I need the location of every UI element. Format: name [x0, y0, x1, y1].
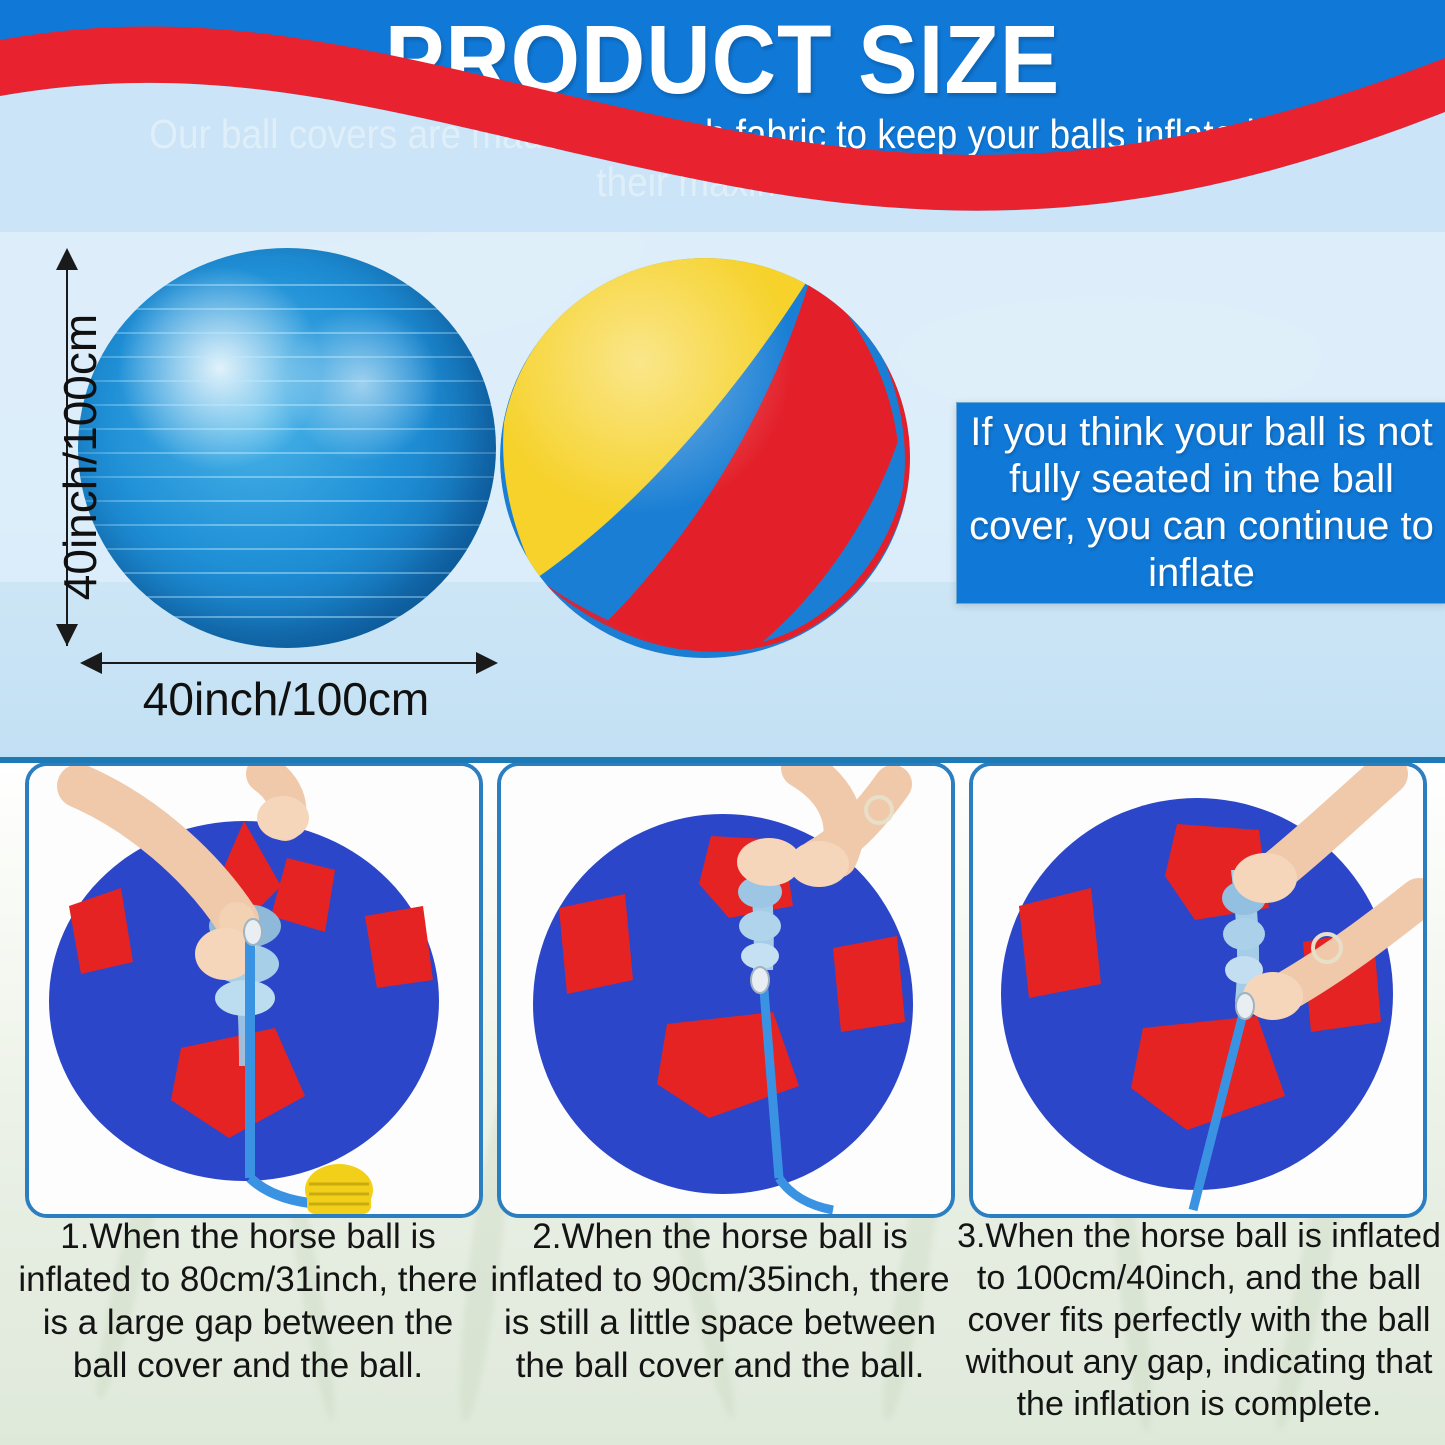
product-size-infographic: PRODUCT SIZE Our ball covers are made of… [0, 0, 1445, 1445]
step-3-photo-panel [969, 762, 1427, 1218]
width-dimension-label: 40inch/100cm [86, 672, 486, 726]
step-1-photo-panel [25, 762, 483, 1218]
step-2-photo-panel [497, 762, 955, 1218]
inflate-tip-callout: If you think your ball is not fully seat… [956, 402, 1445, 604]
height-dimension-label: 40inch/100cm [53, 257, 107, 657]
page-title: PRODUCT SIZE [58, 8, 1387, 112]
caption-step-3: 3.When the horse ball is inflated to 100… [956, 1215, 1442, 1425]
exercise-ball-image [78, 248, 496, 648]
inflate-tip-text: If you think your ball is not fully seat… [957, 409, 1445, 597]
step-captions: 1.When the horse ball is inflated to 80c… [0, 1215, 1445, 1445]
header-subtitle: Our ball covers are made of stretch fabr… [126, 110, 1319, 206]
section-divider [0, 757, 1445, 763]
arrow-right-icon [476, 652, 498, 674]
width-dimension-line [92, 662, 482, 664]
caption-step-1: 1.When the horse ball is inflated to 80c… [12, 1215, 484, 1387]
caption-step-2: 2.When the horse ball is inflated to 90c… [484, 1215, 956, 1387]
header-banner: PRODUCT SIZE Our ball covers are made of… [0, 0, 1445, 232]
step-photo-panels [0, 762, 1445, 1212]
beach-ball-image [500, 258, 910, 658]
